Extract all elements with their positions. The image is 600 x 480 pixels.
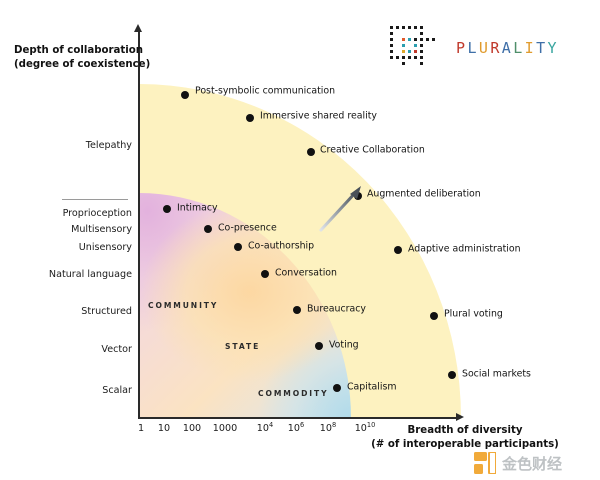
x-tick-base: 10 bbox=[320, 423, 332, 434]
y-tick-label-scalar: Scalar bbox=[6, 385, 132, 396]
data-point-label-co-authorship: Co-authorship bbox=[248, 241, 314, 252]
x-tick-exponent: 6 bbox=[300, 421, 304, 429]
plurality-logo: PLURALITY bbox=[388, 22, 568, 74]
wordmark-letter-3: R bbox=[490, 39, 501, 57]
wordmark-letter-8: Y bbox=[548, 39, 559, 57]
data-point-conversation bbox=[261, 270, 269, 278]
wordmark-letter-4: A bbox=[502, 39, 513, 57]
data-point-voting bbox=[315, 342, 323, 350]
wordmark-letter-0: P bbox=[456, 39, 467, 57]
wordmark-letter-5: L bbox=[513, 39, 524, 57]
data-point-label-voting: Voting bbox=[329, 340, 359, 351]
x-tick-label-2: 100 bbox=[183, 423, 201, 434]
data-point-capitalism bbox=[333, 384, 341, 392]
data-point-creative-collaboration bbox=[307, 148, 315, 156]
data-point-label-post-symbolic-communication: Post-symbolic communication bbox=[195, 86, 335, 97]
data-point-intimacy bbox=[163, 205, 171, 213]
plurality-chart-figure: PLURALITY COMMUNITY STATE COMMODITY Dept… bbox=[0, 0, 600, 480]
data-point-immersive-shared-reality bbox=[246, 114, 254, 122]
wordmark-letter-7: T bbox=[536, 39, 547, 57]
data-point-social-markets bbox=[448, 371, 456, 379]
y-tick-divider-rule bbox=[62, 199, 128, 200]
x-tick-label-0: 1 bbox=[138, 423, 144, 434]
data-point-label-plural-voting: Plural voting bbox=[444, 309, 503, 320]
x-tick-exponent: 4 bbox=[269, 421, 273, 429]
wordmark-letter-2: U bbox=[479, 39, 490, 57]
plurality-wordmark: PLURALITY bbox=[456, 39, 559, 57]
x-tick-base: 10 bbox=[288, 423, 300, 434]
jinse-logo-icon bbox=[474, 452, 496, 474]
y-tick-label-proprioception: Proprioception bbox=[6, 208, 132, 219]
data-point-co-presence bbox=[204, 225, 212, 233]
data-point-adaptive-administration bbox=[394, 246, 402, 254]
x-tick-exponent: 8 bbox=[332, 421, 336, 429]
data-point-label-immersive-shared-reality: Immersive shared reality bbox=[260, 111, 377, 122]
y-tick-label-structured: Structured bbox=[6, 306, 132, 317]
data-point-label-capitalism: Capitalism bbox=[347, 382, 397, 393]
y-tick-label-unisensory: Unisensory bbox=[6, 242, 132, 253]
x-tick-label-1: 10 bbox=[158, 423, 170, 434]
jinse-watermark-text: 金色财经 bbox=[502, 453, 562, 474]
x-tick-label-7: 1010 bbox=[355, 423, 376, 434]
x-tick-base: 10 bbox=[257, 423, 269, 434]
jinse-watermark: 金色财经 bbox=[474, 452, 562, 474]
wordmark-letter-6: I bbox=[525, 39, 536, 57]
y-tick-label-vector: Vector bbox=[6, 344, 132, 355]
y-axis-line bbox=[138, 30, 140, 418]
data-point-co-authorship bbox=[234, 243, 242, 251]
data-point-plural-voting bbox=[430, 312, 438, 320]
y-axis-arrowhead bbox=[134, 24, 142, 32]
plurality-dotted-square-icon bbox=[388, 24, 440, 72]
x-tick-label-3: 1000 bbox=[213, 423, 237, 434]
data-point-label-augmented-deliberation: Augmented deliberation bbox=[367, 189, 481, 200]
data-point-label-co-presence: Co-presence bbox=[218, 223, 277, 234]
y-tick-label-telepathy: Telepathy bbox=[6, 140, 132, 151]
data-point-label-creative-collaboration: Creative Collaboration bbox=[320, 145, 425, 156]
x-axis-line bbox=[138, 417, 458, 419]
y-tick-label-multisensory: Multisensory bbox=[6, 224, 132, 235]
x-tick-exponent: 10 bbox=[367, 421, 375, 429]
x-tick-label-4: 104 bbox=[257, 423, 273, 434]
data-point-label-intimacy: Intimacy bbox=[177, 203, 218, 214]
x-tick-label-6: 108 bbox=[320, 423, 336, 434]
data-point-label-social-markets: Social markets bbox=[462, 369, 531, 380]
x-tick-label-5: 106 bbox=[288, 423, 304, 434]
x-axis-title-sub: (# of interoperable participants) bbox=[330, 438, 600, 452]
x-axis-arrowhead bbox=[456, 413, 464, 421]
data-point-label-bureaucracy: Bureaucracy bbox=[307, 304, 366, 315]
data-point-bureaucracy bbox=[293, 306, 301, 314]
wordmark-letter-1: L bbox=[467, 39, 478, 57]
zone-label-community: COMMUNITY bbox=[148, 301, 218, 310]
x-tick-base: 10 bbox=[355, 423, 367, 434]
zone-label-state: STATE bbox=[225, 342, 260, 351]
data-point-label-conversation: Conversation bbox=[275, 268, 337, 279]
data-point-post-symbolic-communication bbox=[181, 91, 189, 99]
zone-label-commodity: COMMODITY bbox=[258, 389, 329, 398]
data-point-augmented-deliberation bbox=[354, 192, 362, 200]
y-tick-label-group: TelepathyProprioceptionMultisensoryUnise… bbox=[0, 0, 132, 480]
y-tick-label-natural-language: Natural language bbox=[6, 269, 132, 280]
data-point-label-adaptive-administration: Adaptive administration bbox=[408, 244, 521, 255]
